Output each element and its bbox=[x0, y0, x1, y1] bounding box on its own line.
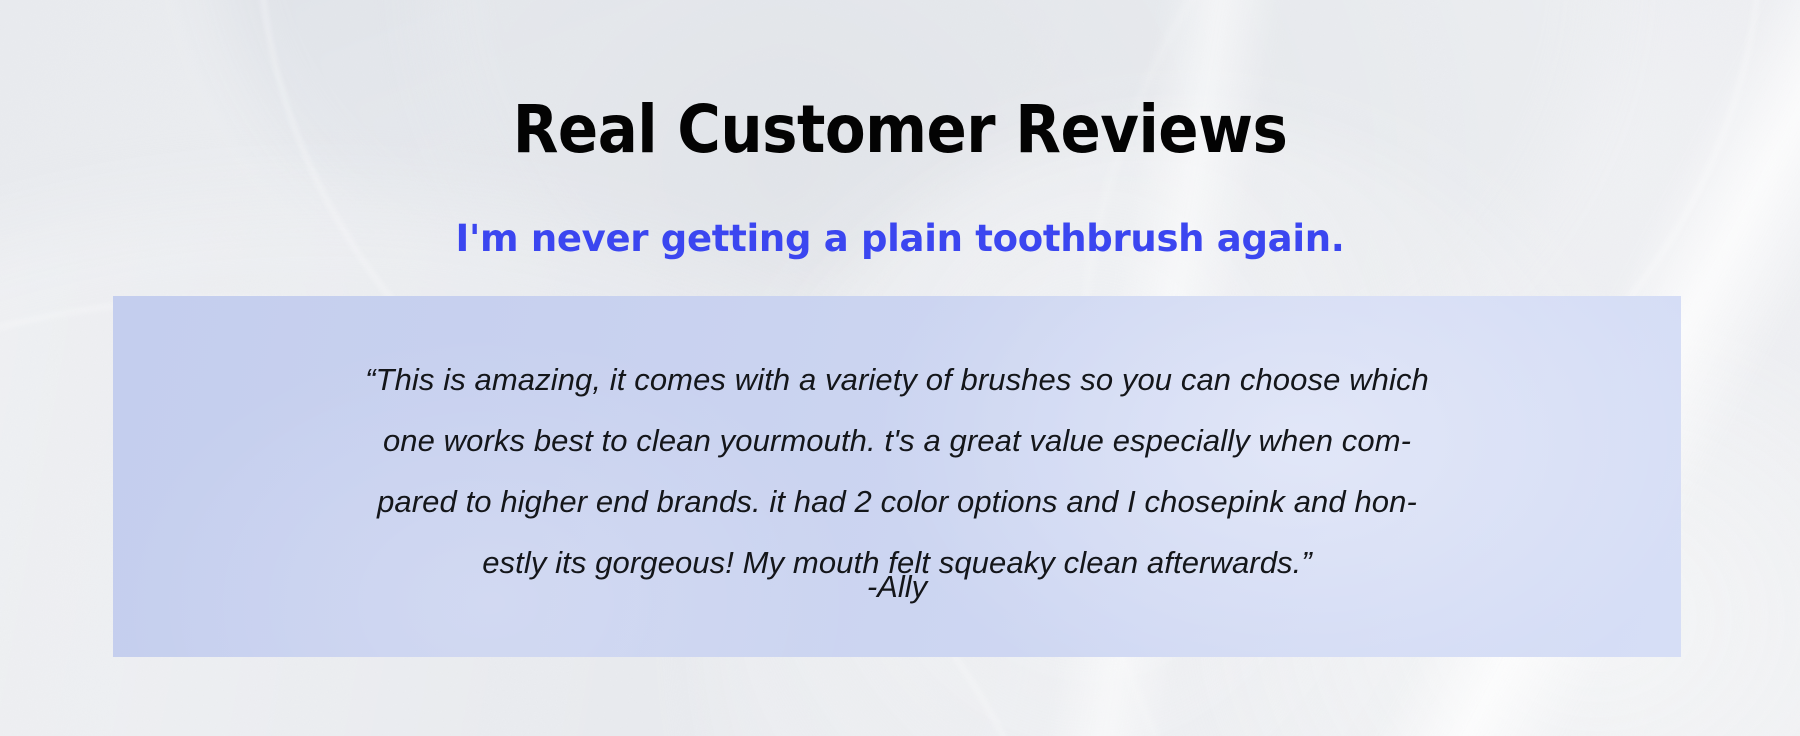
review-quote-text: “This is amazing, it comes with a variet… bbox=[153, 349, 1641, 593]
review-quote-card: “This is amazing, it comes with a variet… bbox=[113, 296, 1681, 657]
review-banner: Real Customer Reviews I'm never getting … bbox=[0, 0, 1800, 736]
review-attribution: -Ally bbox=[113, 567, 1681, 607]
page-title: Real Customer Reviews bbox=[0, 96, 1800, 163]
review-quote-line: pared to higher end brands. it had 2 col… bbox=[153, 471, 1641, 532]
banner-content: Real Customer Reviews I'm never getting … bbox=[0, 0, 1800, 736]
review-quote-line: “This is amazing, it comes with a variet… bbox=[153, 349, 1641, 410]
page-subtitle: I'm never getting a plain toothbrush aga… bbox=[0, 219, 1800, 260]
review-quote-line: one works best to clean yourmouth. t's a… bbox=[153, 410, 1641, 471]
